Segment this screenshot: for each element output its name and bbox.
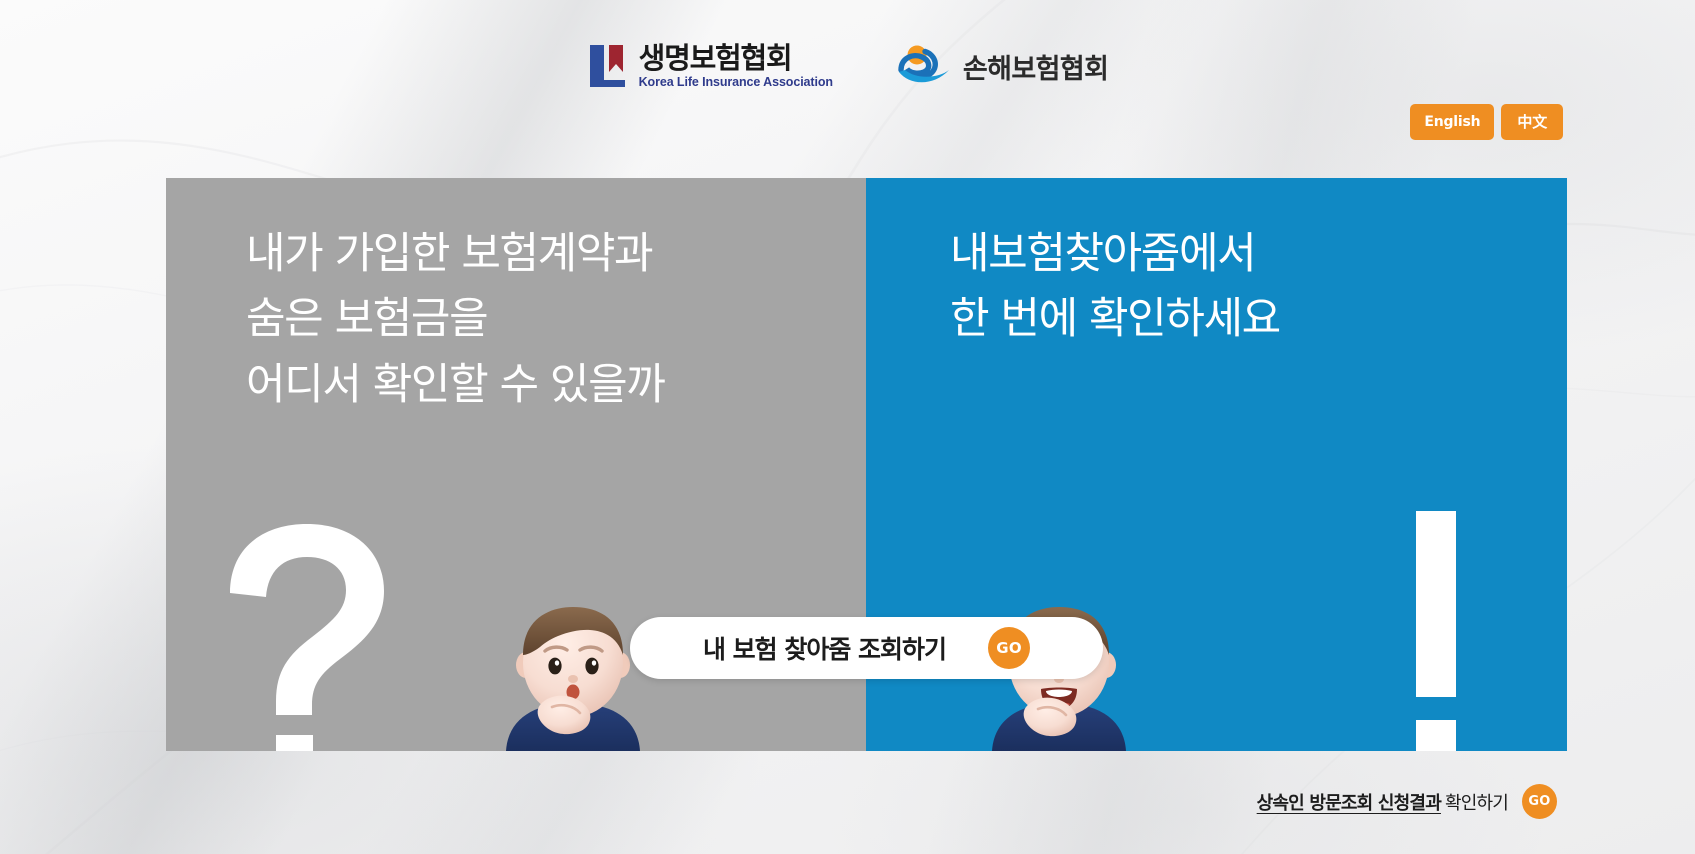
question-mark-icon <box>212 519 402 751</box>
logo-korea-life-insurance-association[interactable]: 생명보험협회 Korea Life Insurance Association <box>587 42 833 90</box>
klia-english-name: Korea Life Insurance Association <box>639 76 833 89</box>
go-badge-icon: GO <box>988 627 1030 669</box>
language-button-english[interactable]: English <box>1410 104 1494 140</box>
klia-logo-mark-icon <box>587 42 629 90</box>
klia-korean-name: 생명보험협회 <box>639 44 833 73</box>
go-badge-icon-bottom: GO <box>1522 784 1557 819</box>
language-switcher: English 中文 <box>1410 104 1563 140</box>
banner-right-heading: 내보험찾아줌에서 한 번에 확인하세요 <box>950 222 1280 353</box>
bottom-link-rest: 확인하기 <box>1445 793 1508 814</box>
heir-visit-inquiry-result-link[interactable]: 상속인 방문조회 신청결과확인하기 GO <box>1257 784 1557 819</box>
logo-bar: 생명보험협회 Korea Life Insurance Association … <box>0 42 1695 90</box>
bottom-link-text: 상속인 방문조회 신청결과확인하기 <box>1257 789 1508 815</box>
gia-korean-name: 손해보험협회 <box>963 47 1108 86</box>
thinking-character-illustration <box>482 603 664 751</box>
bottom-link-emphasis: 상속인 방문조회 신청결과 <box>1257 793 1441 814</box>
gia-logo-mark-icon <box>895 44 953 88</box>
exclamation-mark-icon <box>1401 507 1471 751</box>
language-button-chinese[interactable]: 中文 <box>1501 104 1563 140</box>
logo-general-insurance-association[interactable]: 손해보험협회 <box>895 44 1108 88</box>
klia-logo-text: 생명보험협회 Korea Life Insurance Association <box>639 44 833 89</box>
cta-label: 내 보험 찾아줌 조회하기 <box>703 630 946 666</box>
lookup-my-insurance-button[interactable]: 내 보험 찾아줌 조회하기 GO <box>630 617 1103 679</box>
banner-left-heading: 내가 가입한 보험계약과 숨은 보험금을 어디서 확인할 수 있을까 <box>246 222 664 418</box>
